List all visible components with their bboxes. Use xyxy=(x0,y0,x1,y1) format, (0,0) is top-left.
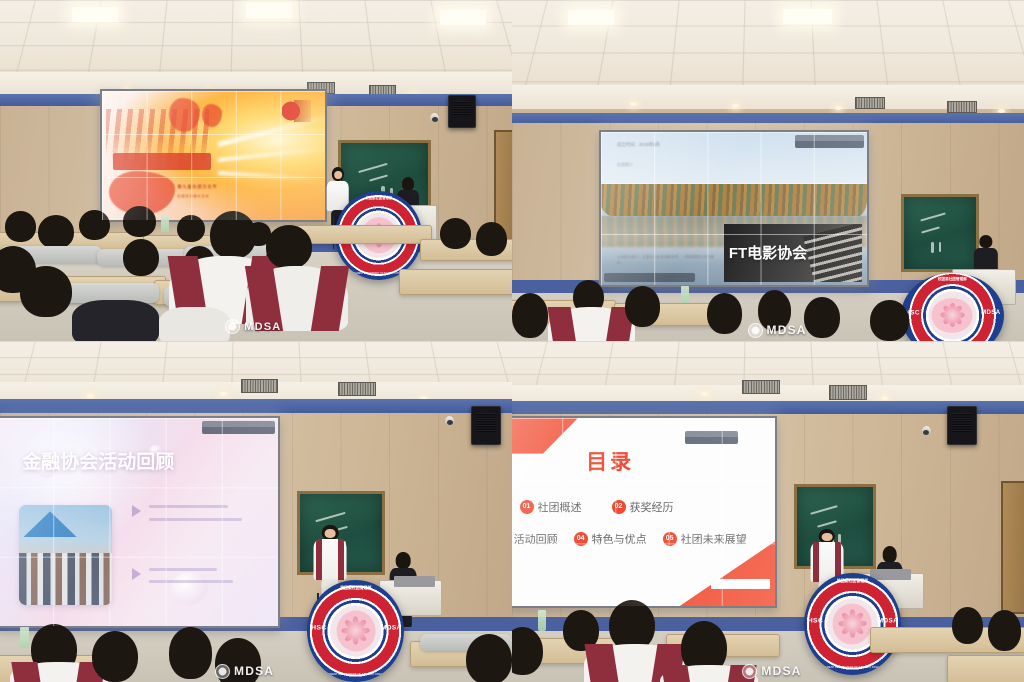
emblem-flower-icon xyxy=(932,298,973,332)
dome-camera xyxy=(430,113,439,122)
dome-camera xyxy=(922,426,931,435)
slide-header: 成立时间：2018年9月 xyxy=(617,142,660,148)
watermark-text: MDSA xyxy=(244,321,281,333)
ppt-toolbar[interactable] xyxy=(202,421,275,434)
toc-number: 01 xyxy=(520,500,534,514)
emblem-right-text: MDSA xyxy=(981,310,1000,316)
hvac-vent xyxy=(338,382,376,396)
toc-row-2: 03 活动回顾 04 特色与优点 05 社团未来展望 xyxy=(512,531,747,547)
collage-panel-bottom-left: 金融协会活动回顾 xyxy=(0,341,512,682)
toc-item-02: 02 获奖经历 xyxy=(612,499,674,515)
audience-head xyxy=(266,225,312,269)
hvac-vent xyxy=(742,380,780,394)
chalkboard xyxy=(901,194,979,272)
audience-head xyxy=(38,215,74,249)
collage-panel-bottom-right: 目录 01 社团概述 02 获奖经历 03 xyxy=(512,341,1024,682)
slide-logo-icon xyxy=(282,100,311,122)
watermark: MDSA xyxy=(215,664,274,679)
collage-panel-top-right: 成立时间：2018年9月 社团简介 以电影为媒介，让更多人走进光影世界，一同感受… xyxy=(512,0,1024,341)
video-wall: 成立时间：2018年9月 社团简介 以电影为媒介，让更多人走进光影世界，一同感受… xyxy=(599,130,869,287)
audience-head xyxy=(79,210,110,241)
slide-award-ceremony: 第九届社团文化节 社团风采展示活动 xyxy=(102,91,325,221)
emblem-right-text: MDSA xyxy=(878,617,898,624)
emblem-arc-top: 校团委社团管理部 xyxy=(901,277,1003,282)
hvac-vent xyxy=(947,101,977,113)
club-emblem: 校团委社团管理部 HSC MDSA MANAGEMENT DEPARTMENT … xyxy=(804,573,901,675)
audience-head xyxy=(440,218,471,249)
audience-head xyxy=(952,607,983,645)
slide-ft-film-club: 成立时间：2018年9月 社团简介 以电影为媒介，让更多人走进光影世界，一同感受… xyxy=(601,132,867,285)
audience-head xyxy=(870,300,908,341)
audience-head xyxy=(123,206,156,237)
watermark: MDSA xyxy=(748,323,807,338)
emblem-left-text: HSC xyxy=(808,617,824,624)
ceiling-panel-light xyxy=(440,10,486,24)
water-bottle xyxy=(681,286,689,303)
ppt-toolbar[interactable] xyxy=(795,135,864,148)
toc-item-05: 05 社团未来展望 xyxy=(663,531,747,547)
audience-head xyxy=(92,631,138,682)
audience-head xyxy=(476,222,507,256)
watermark: MDSA xyxy=(225,319,281,334)
audience-head xyxy=(210,211,256,259)
jacket xyxy=(159,307,231,341)
lecture-desk xyxy=(947,655,1024,682)
lecture-hall-room: 金融协会活动回顾 xyxy=(0,341,512,682)
emblem-arc-bottom: MANAGEMENT DEPARTMENT OF STUDENT ASSOCIA… xyxy=(804,667,901,670)
toc-label: 社团概述 xyxy=(538,499,582,515)
video-wall: 目录 01 社团概述 02 获奖经历 03 xyxy=(512,416,777,608)
bear-badge-icon xyxy=(748,323,763,338)
watermark-text: MDSA xyxy=(761,664,801,678)
recessed-downlight xyxy=(881,396,888,400)
audience-head xyxy=(123,239,159,277)
ceiling-panel-light xyxy=(783,9,832,24)
recessed-downlight xyxy=(87,394,94,398)
slide-title: 目录 xyxy=(586,446,634,476)
emblem-arc-top: 校团委社团管理部 xyxy=(307,585,404,591)
emblem-arc-bottom: MANAGEMENT DEPARTMENT OF STUDENT ASSOCIA… xyxy=(307,674,404,677)
emblem-flower-icon xyxy=(336,610,375,651)
toc-item-01: 01 社团概述 xyxy=(520,499,582,515)
emblem-arc-top: 校团委社团管理部 xyxy=(335,195,422,200)
wall-speaker xyxy=(947,406,977,446)
audience-head xyxy=(5,211,36,242)
video-wall: 第九届社团文化节 社团风采展示活动 xyxy=(100,89,327,223)
slide-title: FT电影协会 xyxy=(729,242,807,263)
lecture-hall-room: 成立时间：2018年9月 社团简介 以电影为媒介，让更多人走进光影世界，一同感受… xyxy=(512,0,1024,341)
toc-number: 02 xyxy=(612,500,626,514)
audience-torso xyxy=(548,307,635,341)
slide-photo xyxy=(19,505,112,605)
hvac-vent xyxy=(855,97,885,109)
toc-label: 活动回顾 xyxy=(514,531,558,547)
toc-number: 04 xyxy=(574,532,588,546)
emblem-flower-icon xyxy=(833,604,872,645)
toc-label: 社团未来展望 xyxy=(681,531,747,547)
ppt-toolbar[interactable] xyxy=(685,431,738,444)
ceiling-panel-light xyxy=(72,7,118,22)
audience-head xyxy=(707,293,743,334)
toc-label: 特色与优点 xyxy=(592,531,647,547)
toc-number: 05 xyxy=(663,532,677,546)
slide-title: 第九届社团文化节 xyxy=(178,184,218,190)
slide-subtitle: 社团风采展示活动 xyxy=(178,194,210,198)
audience-head xyxy=(466,634,512,682)
bear-badge-icon xyxy=(215,664,230,679)
club-emblem: 校团委社团管理部 HSC MDSA MANAGEMENT DEPARTMENT … xyxy=(307,580,404,682)
audience-head xyxy=(988,610,1021,651)
slide-footer: 以电影为媒介，让更多人走进光影世界，一同感受镜头中的美好。 xyxy=(617,255,718,266)
lecture-hall-room: 第九届社团文化节 社团风采展示活动 校团委社团管理部 xyxy=(0,0,512,341)
toc-item-03: 03 活动回顾 xyxy=(512,531,558,547)
water-bottle xyxy=(538,610,547,630)
ppt-taskbar[interactable] xyxy=(604,273,695,282)
slide-table-of-contents: 目录 01 社团概述 02 获奖经历 03 xyxy=(512,418,775,606)
watermark: MDSA xyxy=(742,664,801,679)
photo-collage: 第九届社团文化节 社团风采展示活动 校团委社团管理部 xyxy=(0,0,1024,682)
backpack xyxy=(72,300,159,341)
slide-body: 社团简介 xyxy=(617,162,723,168)
slide-title: 金融协会活动回顾 xyxy=(22,447,174,474)
hvac-vent xyxy=(829,385,867,399)
emblem-arc-top: 校团委社团管理部 xyxy=(804,578,901,584)
water-bottle xyxy=(20,627,29,647)
emblem-left-text: HSC xyxy=(311,624,327,631)
watermark-text: MDSA xyxy=(767,323,807,337)
audience-head xyxy=(177,215,205,242)
toc-row-1: 01 社团概述 02 获奖经历 xyxy=(520,499,674,515)
toc-label: 获奖经历 xyxy=(630,499,674,515)
lecture-hall-room: 目录 01 社团概述 02 获奖经历 03 xyxy=(512,341,1024,682)
slide-finance-review: 金融协会活动回顾 xyxy=(0,418,278,626)
recessed-downlight xyxy=(835,106,842,110)
audience-head xyxy=(625,286,661,327)
emblem-right-text: MDSA xyxy=(381,624,401,631)
bear-badge-icon xyxy=(742,664,757,679)
door[interactable] xyxy=(1001,481,1024,615)
audience-head xyxy=(804,297,840,338)
toc-item-04: 04 特色与优点 xyxy=(574,531,647,547)
wall-speaker xyxy=(471,406,501,446)
watermark-text: MDSA xyxy=(234,664,274,678)
ceiling-panel-light xyxy=(246,3,292,17)
ceiling-panel-light xyxy=(568,10,614,24)
lecture-desk xyxy=(399,269,512,295)
collage-panel-top-left: 第九届社团文化节 社团风采展示活动 校团委社团管理部 xyxy=(0,0,512,341)
audience-head xyxy=(169,627,213,678)
wall-speaker xyxy=(448,95,476,128)
hvac-vent xyxy=(241,379,279,393)
video-wall: 金融协会活动回顾 xyxy=(0,416,280,628)
water-bottle xyxy=(161,215,169,232)
lecture-desk xyxy=(297,225,432,244)
bear-badge-icon xyxy=(225,319,240,334)
audience-head xyxy=(512,293,548,337)
